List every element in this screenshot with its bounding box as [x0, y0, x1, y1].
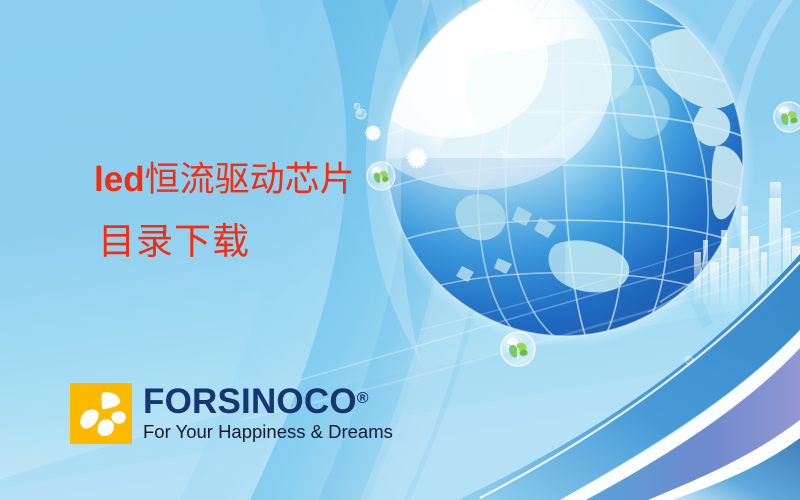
- sprout-bubble-1: [367, 162, 395, 190]
- logo-text-block: FORSINOCO® For Your Happiness & Dreams: [143, 383, 393, 443]
- logo-wordmark-text: FORSINOCO: [143, 382, 357, 421]
- logo-tagline: For Your Happiness & Dreams: [143, 421, 393, 443]
- small-bubble-3: [685, 356, 693, 364]
- sprout-bubble-3: [774, 102, 800, 132]
- logo-wordmark: FORSINOCO®: [143, 385, 369, 419]
- company-logo[interactable]: FORSINOCO® For Your Happiness & Dreams: [70, 383, 393, 444]
- promo-banner: led恒流驱动芯片 目录下载 FORSINOCO® For Your Happ: [0, 0, 800, 500]
- small-bubble-2: [354, 103, 360, 109]
- forsinoco-pinwheel-icon: [70, 383, 132, 444]
- sprout-bubble-2: [501, 332, 535, 366]
- white-asterisk-flower-2: [406, 147, 427, 168]
- small-bubble-1: [356, 109, 366, 119]
- registered-trademark-icon: ®: [357, 390, 369, 407]
